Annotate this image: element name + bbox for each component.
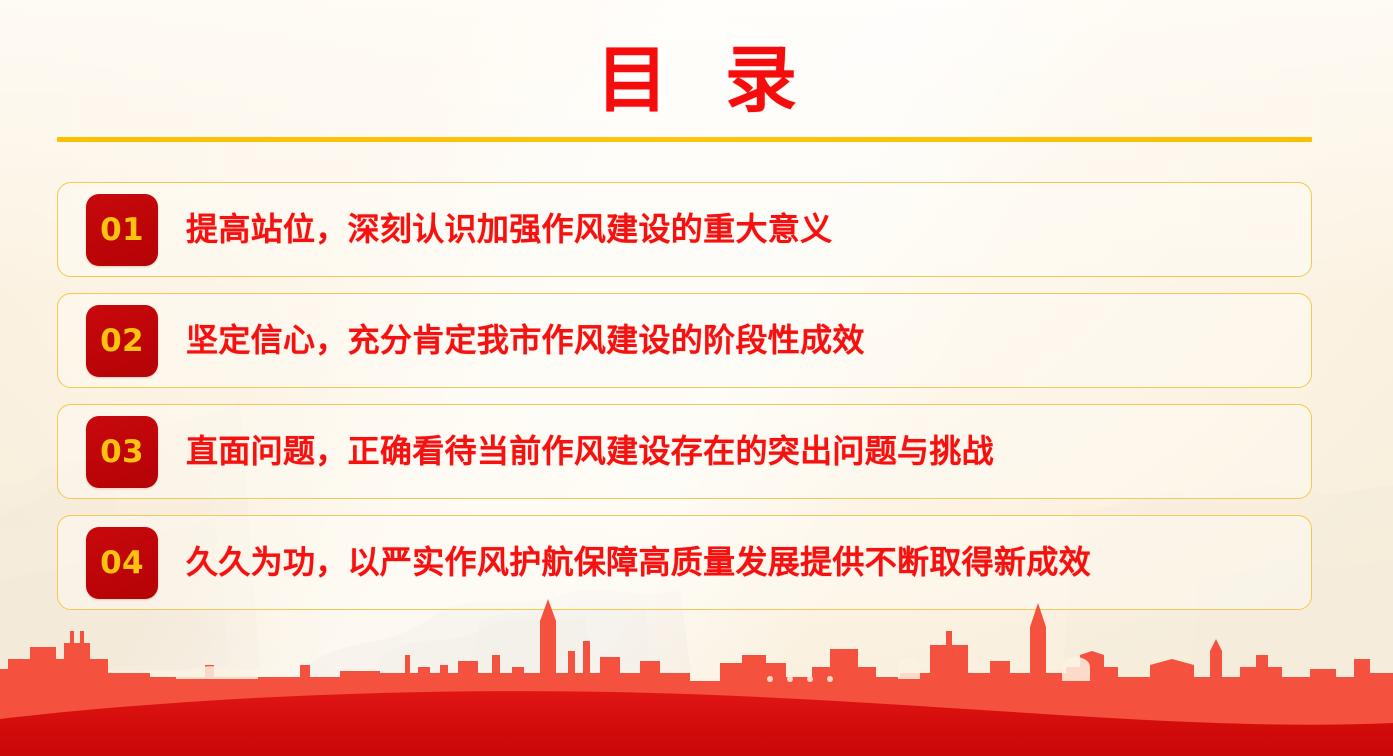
skyline-cutouts — [176, 655, 1090, 682]
toc-item-03[interactable]: 03 直面问题，正确看待当前作风建设存在的突出问题与挑战 — [57, 404, 1312, 499]
toc-item-02[interactable]: 02 坚定信心，充分肯定我市作风建设的阶段性成效 — [57, 293, 1312, 388]
toc-item-label: 直面问题，正确看待当前作风建设存在的突出问题与挑战 — [186, 433, 1311, 470]
toc-item-label: 提高站位，深刻认识加强作风建设的重大意义 — [186, 211, 1311, 248]
page-title: 目 录 — [0, 44, 1393, 116]
toc-item-label: 坚定信心，充分肯定我市作风建设的阶段性成效 — [186, 322, 1311, 359]
title-divider-rule — [57, 137, 1312, 142]
toc-item-label: 久久为功，以严实作风护航保障高质量发展提供不断取得新成效 — [186, 544, 1311, 581]
toc-number-badge: 02 — [86, 305, 158, 377]
toc-item-01[interactable]: 01 提高站位，深刻认识加强作风建设的重大意义 — [57, 182, 1312, 277]
red-curved-band — [0, 691, 1393, 756]
toc-item-04[interactable]: 04 久久为功，以严实作风护航保障高质量发展提供不断取得新成效 — [57, 515, 1312, 610]
toc-number-badge: 01 — [86, 194, 158, 266]
toc-slide: 目 录 01 提高站位，深刻认识加强作风建设的重大意义 02 坚定信心，充分肯定… — [0, 0, 1393, 756]
toc-list: 01 提高站位，深刻认识加强作风建设的重大意义 02 坚定信心，充分肯定我市作风… — [57, 182, 1312, 626]
toc-number-badge: 04 — [86, 527, 158, 599]
toc-number-badge: 03 — [86, 416, 158, 488]
